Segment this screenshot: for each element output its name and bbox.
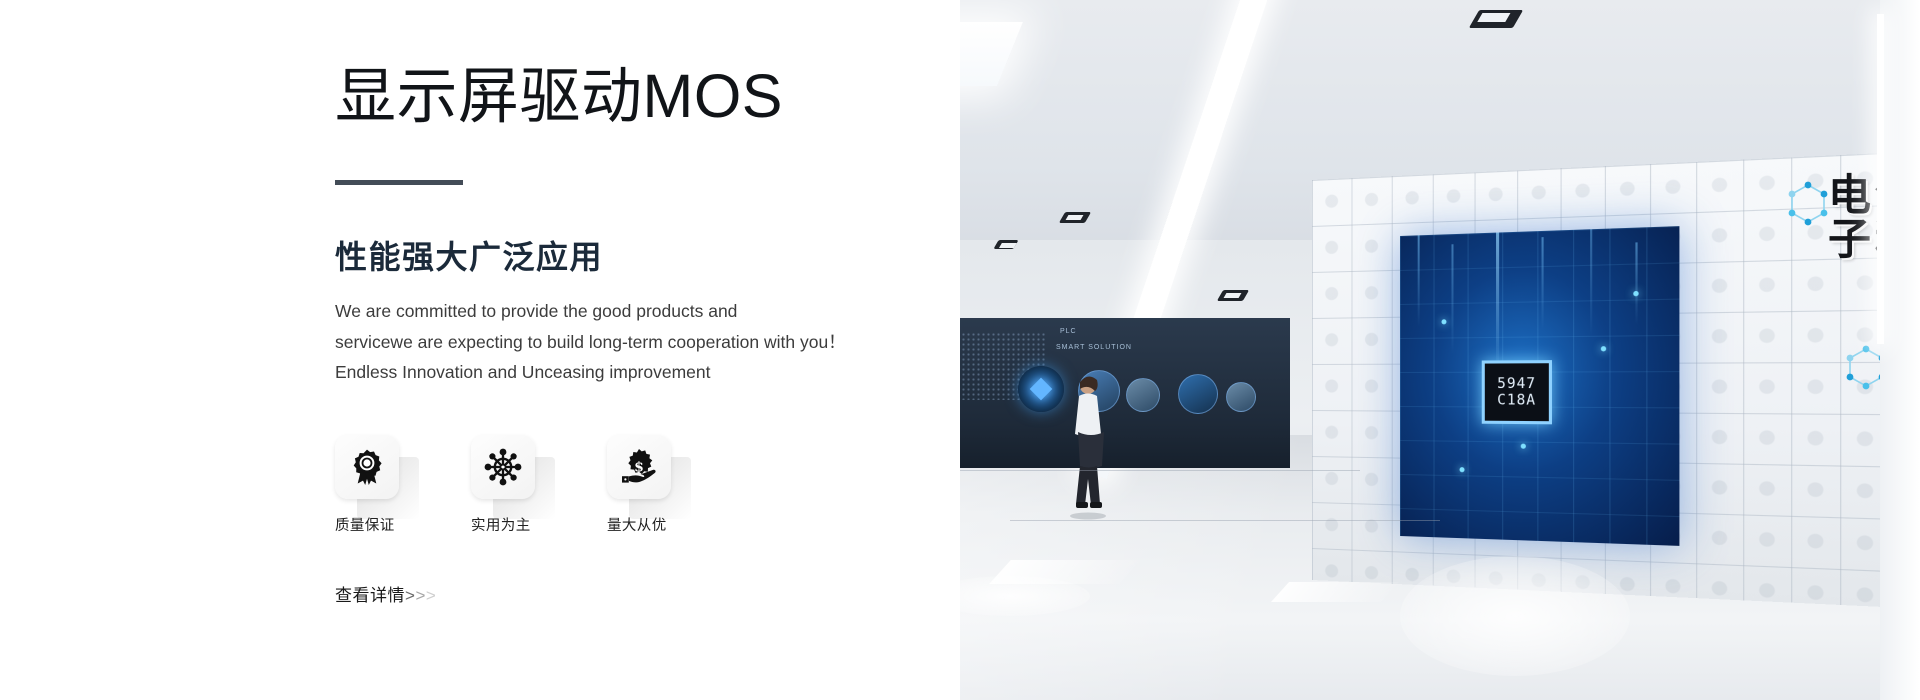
description-line-1: We are committed to provide the good pro… [335, 296, 895, 326]
text-panel: 显示屏驱动MOS 性能强大广泛应用 We are committed to pr… [0, 0, 960, 700]
description-text: We are committed to provide the good pro… [335, 296, 895, 387]
exhibit-photo-circle [1226, 382, 1256, 412]
feature-item-quality[interactable]: 质量保证 [335, 435, 413, 535]
person-standing-right [1060, 370, 1116, 520]
floor-reflection [1271, 582, 1399, 602]
exhibit-label-1: PLC [1060, 328, 1077, 335]
chip-graphic: 5947 C18A [1482, 360, 1552, 424]
exhibit-photo-circle [1178, 374, 1218, 414]
chip-line-1: 5947 [1497, 376, 1536, 393]
exhibit-label-2: SMART SOLUTION [1056, 344, 1132, 351]
feature-item-bulk-discount[interactable]: $ 量大从优 [607, 435, 685, 535]
signage-char: 电 [1828, 175, 1871, 219]
promo-banner: PLC SMART SOLUTION [0, 0, 1920, 700]
subtitle: 性能强大广泛应用 [335, 232, 895, 278]
feature-label: 量大从优 [607, 514, 667, 535]
feature-label: 实用为主 [471, 514, 531, 535]
screen-floor-glow [1400, 556, 1630, 676]
hand-holding-money-icon: $ [620, 448, 658, 486]
signage-char: 子 [1828, 219, 1871, 263]
feature-tile[interactable]: $ [607, 435, 671, 499]
view-details-link[interactable]: 查看详情>>> [335, 581, 436, 606]
award-ribbon-icon [348, 448, 386, 486]
chevron-1-icon: > [405, 586, 415, 605]
feature-label: 质量保证 [335, 514, 395, 535]
feature-tile[interactable] [471, 435, 535, 499]
svg-text:$: $ [634, 459, 644, 475]
right-wall-panel [1880, 0, 1920, 700]
page-title: 显示屏驱动MOS [335, 62, 895, 130]
description-line-2: servicewe are expecting to build long-te… [335, 327, 895, 357]
wall-edge-light [1877, 14, 1884, 344]
title-divider [335, 180, 463, 185]
exhibit-photo-circle [1126, 378, 1160, 412]
chevron-2-icon: > [415, 586, 425, 605]
network-hub-chip-icon [484, 448, 522, 486]
chevron-3-icon: > [426, 586, 436, 605]
feature-item-practical[interactable]: 实用为主 [471, 435, 549, 535]
description-line-3: Endless Innovation and Unceasing improve… [335, 357, 895, 387]
floor-seam [1010, 520, 1440, 521]
feature-tile[interactable] [335, 435, 399, 499]
chip-line-2: C18A [1497, 392, 1536, 409]
view-details-label: 查看详情 [335, 586, 405, 605]
led-video-screen: 5947 C18A [1400, 226, 1679, 546]
feature-list: 质量保证 [335, 435, 895, 535]
exhibit-chip-graphic [1018, 366, 1064, 412]
